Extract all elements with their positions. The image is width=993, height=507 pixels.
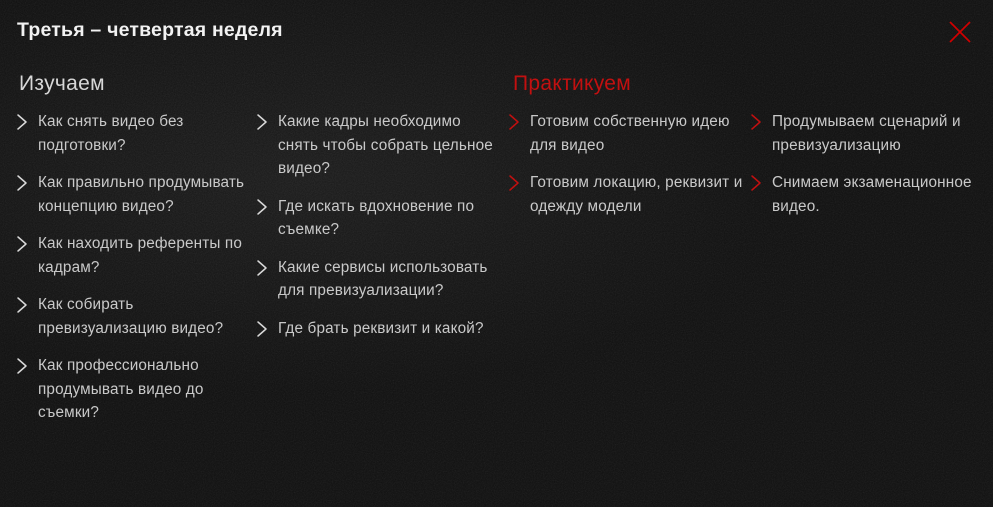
list-item-label: Где брать реквизит и какой? <box>278 317 484 341</box>
list-item-label: Как профессионально продумывать видео до… <box>38 354 248 425</box>
close-button[interactable] <box>944 16 976 48</box>
list-item: Готовим локацию, реквизит и одежду модел… <box>508 171 746 218</box>
section-heading-practice: Практикуем <box>513 72 631 96</box>
list-item-label: Снимаем экзаменационное видео. <box>772 171 986 218</box>
section-heading-study: Изучаем <box>19 72 105 96</box>
list-item-label: Готовим собственную идею для видео <box>530 110 746 157</box>
list-item-label: Готовим локацию, реквизит и одежду модел… <box>530 171 746 218</box>
chevron-right-icon <box>16 356 29 376</box>
list-item: Какие сервисы использовать для превизуал… <box>256 256 504 303</box>
close-icon <box>944 16 976 48</box>
chevron-right-icon <box>750 173 763 193</box>
title-bar: Третья – четвертая неделя <box>17 17 933 45</box>
list-item: Снимаем экзаменационное видео. <box>750 171 986 218</box>
chevron-right-icon <box>16 173 29 193</box>
list-item: Продумываем сценарий и превизуализацию <box>750 110 986 157</box>
modal-panel: Третья – четвертая неделя Изучаем Практи… <box>0 0 993 507</box>
chevron-right-icon <box>256 319 269 339</box>
list-item-label: Продумываем сценарий и превизуализацию <box>772 110 986 157</box>
list-item: Готовим собственную идею для видео <box>508 110 746 157</box>
list-item: Какие кадры необходимо снять чтобы собра… <box>256 110 504 181</box>
list-item: Где брать реквизит и какой? <box>256 317 504 341</box>
list-item-label: Как находить референты по кадрам? <box>38 232 248 279</box>
list-item-label: Как снять видео без подготовки? <box>38 110 248 157</box>
list-column-practice-2: Продумываем сценарий и превизуализациюСн… <box>750 110 986 232</box>
list-item: Как снять видео без подготовки? <box>16 110 248 157</box>
chevron-right-icon <box>16 112 29 132</box>
chevron-right-icon <box>256 197 269 217</box>
chevron-right-icon <box>750 112 763 132</box>
list-item-label: Какие сервисы использовать для превизуал… <box>278 256 504 303</box>
list-item-label: Как собирать превизуализацию видео? <box>38 293 248 340</box>
list-item-label: Как правильно продумывать концепцию виде… <box>38 171 248 218</box>
chevron-right-icon <box>256 258 269 278</box>
chevron-right-icon <box>508 112 521 132</box>
list-item: Как правильно продумывать концепцию виде… <box>16 171 248 218</box>
chevron-right-icon <box>16 295 29 315</box>
list-item-label: Где искать вдохновение по съемке? <box>278 195 504 242</box>
list-item: Как находить референты по кадрам? <box>16 232 248 279</box>
list-item: Как собирать превизуализацию видео? <box>16 293 248 340</box>
chevron-right-icon <box>16 234 29 254</box>
list-item-label: Какие кадры необходимо снять чтобы собра… <box>278 110 504 181</box>
chevron-right-icon <box>508 173 521 193</box>
page-title: Третья – четвертая неделя <box>17 17 933 43</box>
list-column-practice-1: Готовим собственную идею для видеоГотови… <box>508 110 746 232</box>
list-item: Где искать вдохновение по съемке? <box>256 195 504 242</box>
list-column-study-1: Как снять видео без подготовки?Как прави… <box>16 110 248 439</box>
list-column-study-2: Какие кадры необходимо снять чтобы собра… <box>256 110 504 354</box>
chevron-right-icon <box>256 112 269 132</box>
list-item: Как профессионально продумывать видео до… <box>16 354 248 425</box>
